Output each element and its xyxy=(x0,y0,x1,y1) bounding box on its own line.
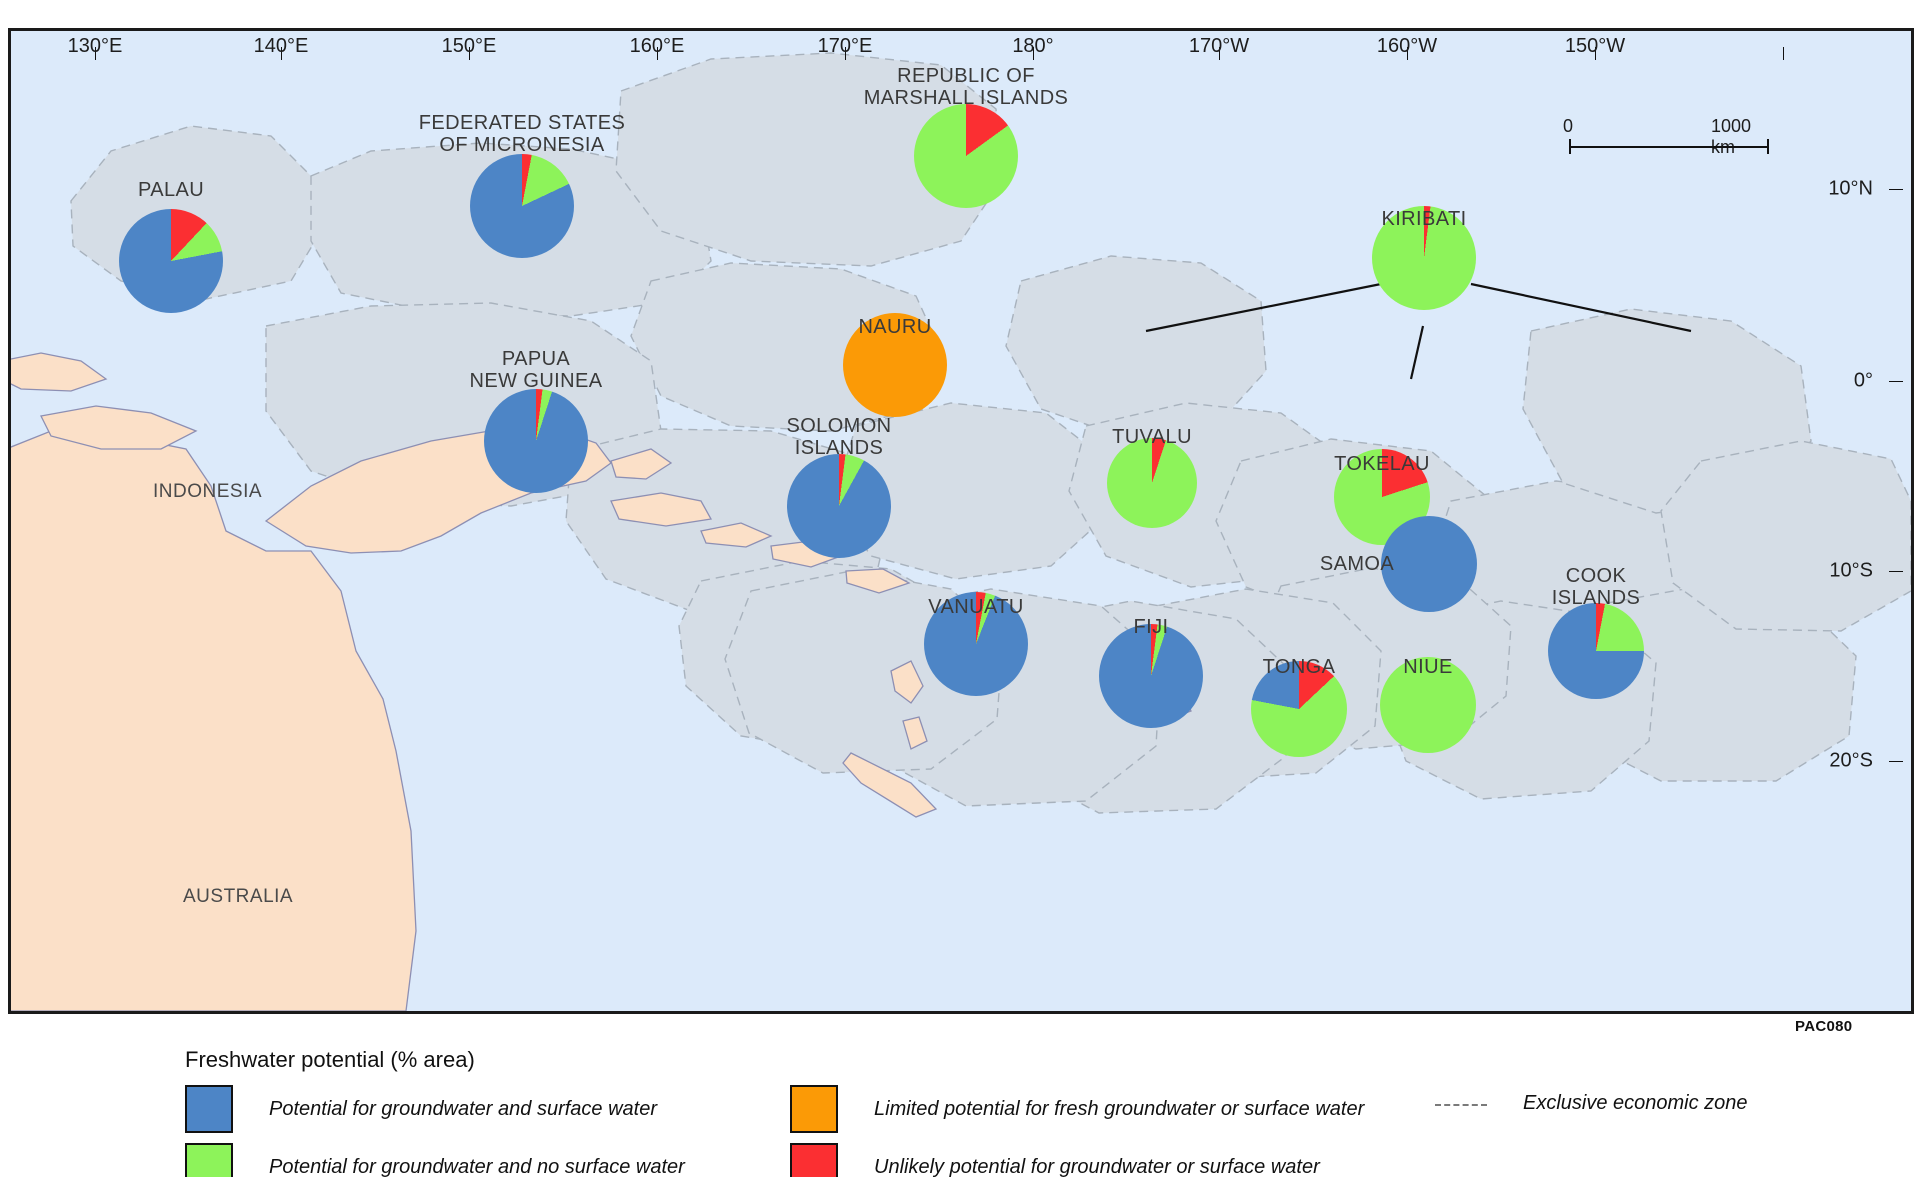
lat-tick xyxy=(1889,189,1903,190)
pie-tuvalu[interactable] xyxy=(1107,438,1197,528)
pie-fiji[interactable] xyxy=(1099,624,1203,728)
eez-dash-icon xyxy=(1435,1104,1487,1106)
lat-label-1: 0° xyxy=(1854,370,1873,393)
pie-label-palau: PALAU xyxy=(138,179,204,201)
legend-item-red[interactable]: Unlikely potential for groundwater or su… xyxy=(790,1143,1320,1177)
pie-micronesia[interactable] xyxy=(470,154,574,258)
pie-label-kiribati: KIRIBATI xyxy=(1381,208,1466,230)
lon-label-3: 160°E xyxy=(630,35,685,58)
lon-label-0: 130°E xyxy=(68,35,123,58)
legend-swatch-green xyxy=(185,1143,233,1177)
map-canvas[interactable]: 130°E 140°E 150°E 160°E 170°E 180° 170°W… xyxy=(8,28,1914,1014)
legend-item-blue[interactable]: Potential for groundwater and surface wa… xyxy=(185,1085,657,1133)
legend-label-green: Potential for groundwater and no surface… xyxy=(269,1156,685,1177)
lon-tick xyxy=(1783,47,1784,60)
legend-label-blue: Potential for groundwater and surface wa… xyxy=(269,1098,657,1121)
pie-label-cook-islands: COOK ISLANDS xyxy=(1552,565,1640,610)
lon-label-8: 150°W xyxy=(1565,35,1625,58)
pie-label-tuvalu: TUVALU xyxy=(1112,426,1192,448)
scale-start-label: 0 xyxy=(1563,116,1573,137)
pie-palau[interactable] xyxy=(119,209,223,313)
lat-label-3: 20°S xyxy=(1829,750,1873,773)
lon-label-7: 160°W xyxy=(1377,35,1437,58)
scale-line xyxy=(1569,146,1769,148)
legend-item-eez[interactable]: Exclusive economic zone xyxy=(1435,1092,1748,1115)
pie-label-fiji: FIJI xyxy=(1134,616,1169,638)
legend-label-orange: Limited potential for fresh groundwater … xyxy=(874,1098,1364,1121)
lat-label-2: 10°S xyxy=(1829,560,1873,583)
pie-label-tokelau: TOKELAU xyxy=(1334,453,1430,475)
pie-label-micronesia: FEDERATED STATES OF MICRONESIA xyxy=(419,112,625,157)
lat-label-0: 10°N xyxy=(1828,178,1873,201)
pie-label-niue: NIUE xyxy=(1403,656,1452,678)
lon-label-4: 170°E xyxy=(818,35,873,58)
lon-label-1: 140°E xyxy=(254,35,309,58)
legend-label-eez: Exclusive economic zone xyxy=(1523,1092,1748,1115)
legend: Freshwater potential (% area) Potential … xyxy=(0,1030,1922,1177)
legend-item-green[interactable]: Potential for groundwater and no surface… xyxy=(185,1143,685,1177)
legend-label-red: Unlikely potential for groundwater or su… xyxy=(874,1156,1320,1177)
pie-label-papua-new-guinea: PAPUA NEW GUINEA xyxy=(470,348,603,393)
scale-tick-right xyxy=(1767,139,1769,154)
pie-label-solomon-islands: SOLOMON ISLANDS xyxy=(786,415,891,460)
lon-label-2: 150°E xyxy=(442,35,497,58)
legend-swatch-blue xyxy=(185,1085,233,1133)
pie-marshall-islands[interactable] xyxy=(914,104,1018,208)
map-figure: 130°E 140°E 150°E 160°E 170°E 180° 170°W… xyxy=(0,0,1922,1177)
legend-item-orange[interactable]: Limited potential for fresh groundwater … xyxy=(790,1085,1364,1133)
legend-swatch-orange xyxy=(790,1085,838,1133)
lat-tick xyxy=(1889,761,1903,762)
pie-solomon-islands[interactable] xyxy=(787,454,891,558)
pie-label-samoa: SAMOA xyxy=(1320,553,1394,575)
lat-tick xyxy=(1889,571,1903,572)
pie-label-nauru: NAURU xyxy=(858,316,931,338)
scale-bar: 0 1000 km xyxy=(1561,116,1776,164)
lat-tick xyxy=(1889,381,1903,382)
legend-title: Freshwater potential (% area) xyxy=(185,1047,475,1073)
pie-label-marshall-islands: REPUBLIC OF MARSHALL ISLANDS xyxy=(864,65,1069,110)
label-australia: AUSTRALIA xyxy=(183,886,293,908)
pie-label-tonga: TONGA xyxy=(1263,656,1336,678)
pie-label-vanuatu: VANUATU xyxy=(928,596,1023,618)
label-indonesia: INDONESIA xyxy=(153,481,262,503)
pie-papua-new-guinea[interactable] xyxy=(484,389,588,493)
legend-swatch-red xyxy=(790,1143,838,1177)
pie-samoa[interactable] xyxy=(1381,516,1477,612)
lon-label-5: 180° xyxy=(1012,35,1053,58)
lon-label-6: 170°W xyxy=(1189,35,1249,58)
pie-cook-islands[interactable] xyxy=(1548,603,1644,699)
